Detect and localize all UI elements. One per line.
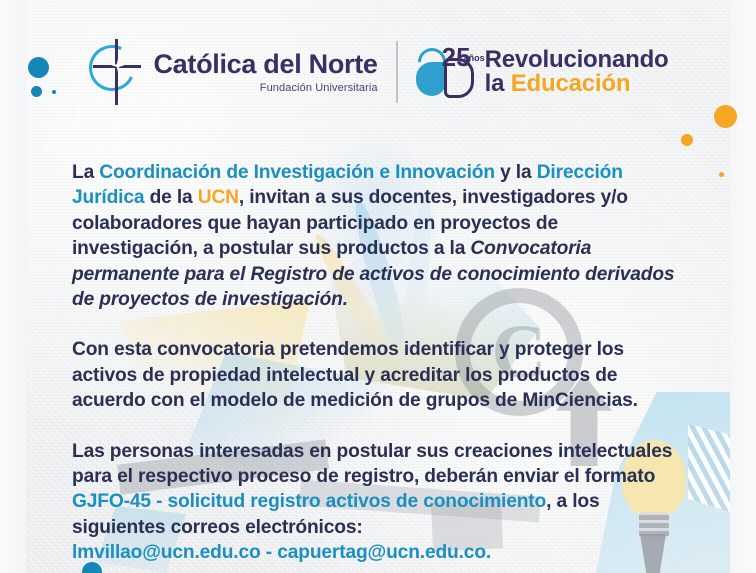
contact-email-1[interactable]: lmvillao@ucn.edu.co <box>72 542 261 563</box>
email-separator: - <box>261 542 278 563</box>
logo-title: Católica del Norte <box>153 51 377 78</box>
p3-seg1: Las personas interesadas en postular sus… <box>72 441 672 487</box>
p1-coordinacion-accent: Coordinación de Investigación e Innovaci… <box>99 162 495 183</box>
p1-seg5: de la <box>144 187 197 208</box>
brain-circuit-icon: 25 años <box>416 44 478 100</box>
announcement-body: La Coordinación de Investigación e Innov… <box>72 160 686 566</box>
logo-subtitle: Fundación Universitaria <box>153 83 377 94</box>
logo-left-text-block: Católica del Norte Fundación Universitar… <box>153 51 377 94</box>
paragraph-invitation: La Coordinación de Investigación e Innov… <box>72 160 686 312</box>
poster-canvas: Católica del Norte Fundación Universitar… <box>0 0 756 573</box>
compass-vertical-bar-shape <box>115 39 118 105</box>
logo-divider <box>396 41 398 103</box>
dot-orange-small-right <box>681 134 693 146</box>
paragraph-purpose: Con esta convocatoria pretendemos identi… <box>72 337 686 413</box>
p1-seg3: y la <box>495 162 537 183</box>
p3-form-code-accent: GJFO-45 - solicitud registro activos de … <box>72 491 546 512</box>
p1-seg9: . <box>343 289 348 310</box>
logo-la-word: la <box>485 70 511 97</box>
p1-ucn-highlight: UCN <box>198 187 239 208</box>
logo-revolucionando-line: Revolucionando <box>485 48 669 72</box>
logo-catolica-del-norte: Católica del Norte Fundación Universitar… <box>87 39 377 105</box>
header-logo-row: Católica del Norte Fundación Universitar… <box>0 33 756 111</box>
contact-email-2[interactable]: capuertag@ucn.edu.co. <box>277 542 491 563</box>
anniversary-years-label: años <box>464 53 485 63</box>
compass-ring-shape <box>83 39 142 98</box>
p2-text: Con esta convocatoria pretendemos identi… <box>72 339 638 411</box>
logo-revolucionando-la-educacion: 25 años Revolucionando la Educación <box>416 44 669 100</box>
logo-right-text-block: Revolucionando la Educación <box>485 48 669 97</box>
logo-educacion-word: Educación <box>511 70 631 97</box>
dot-orange-tiny-right <box>719 172 724 177</box>
logo-educacion-line: la Educación <box>485 72 669 96</box>
compass-cross-icon <box>87 39 145 105</box>
p1-seg1: La <box>72 162 99 183</box>
paragraph-instructions: Las personas interesadas en postular sus… <box>72 439 686 566</box>
